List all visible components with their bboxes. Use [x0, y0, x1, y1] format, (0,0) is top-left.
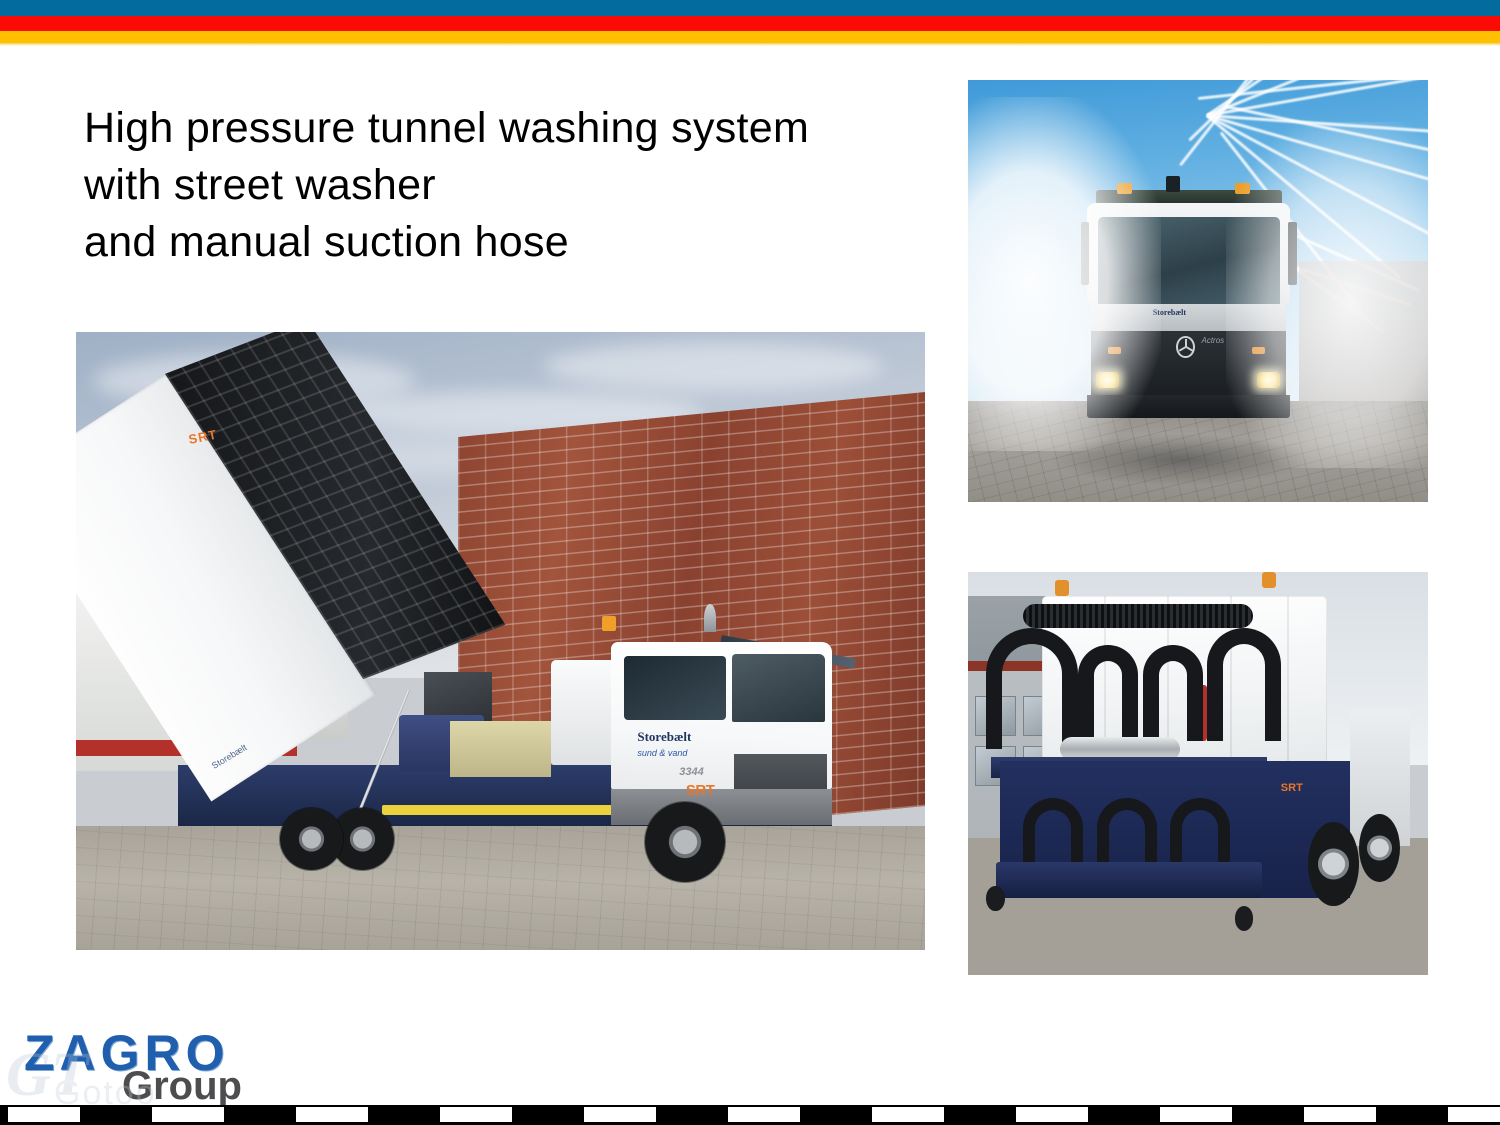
suction-hose-top [1023, 604, 1253, 628]
caster-wheel [1235, 906, 1253, 930]
checker-block [152, 1107, 224, 1122]
checker-block [1448, 1107, 1500, 1122]
checker-block [1016, 1107, 1088, 1122]
front-wheel [645, 802, 726, 882]
srt-body-mark: SRT [1281, 782, 1303, 794]
checker-block [440, 1107, 512, 1122]
cab-brand-text: Storebælt [637, 729, 691, 745]
zagro-group-word: Group [122, 1064, 242, 1109]
band-stripe-fade [0, 43, 1500, 46]
suction-hose [1143, 645, 1203, 742]
band-stripe-blue [0, 0, 1500, 16]
suction-hose-lower [1023, 798, 1083, 871]
rear-wheel [280, 808, 343, 870]
suction-hose-lower [1097, 798, 1157, 871]
checker-block [1304, 1107, 1376, 1122]
water-mist [1226, 122, 1428, 468]
amber-beacon [1262, 572, 1276, 588]
band-stripe-yellow [0, 31, 1500, 43]
sweeping-bar [996, 862, 1263, 898]
checker-block [728, 1107, 800, 1122]
zagro-logo: ZAGRO Group [18, 1024, 253, 1104]
model-badge: Actros [1201, 336, 1224, 345]
slide-title: High pressure tunnel washing system with… [84, 100, 964, 271]
caster-wheel [986, 886, 1004, 910]
photo-main-tipping-truck: SRT Storebælt Storebælt sund & vand 3344… [76, 332, 925, 950]
suction-hose [1207, 628, 1281, 741]
truck-cab: Storebælt sund & vand 3344 SRT [611, 629, 832, 858]
suction-hose-lower [1170, 798, 1230, 871]
checker-block [8, 1107, 80, 1122]
checker-block [1160, 1107, 1232, 1122]
equipment-box [450, 721, 552, 777]
water-mist [968, 97, 1161, 451]
band-stripe-red [0, 16, 1500, 31]
rear-wheel [1308, 822, 1359, 907]
cab-side-window [624, 656, 726, 720]
suction-hose [986, 628, 1078, 749]
photo-street-washer-spraying: Storebælt Actros [968, 80, 1428, 502]
suction-hose [1078, 645, 1138, 742]
checker-block [584, 1107, 656, 1122]
slide-root: High pressure tunnel washing system with… [0, 0, 1500, 1125]
cab-bumper [611, 789, 832, 826]
suction-mast [704, 604, 716, 632]
cab-srt-mark: SRT [686, 782, 715, 799]
checker-block [296, 1107, 368, 1122]
checkered-bottom-bar [0, 1105, 1500, 1125]
top-color-band [0, 0, 1500, 46]
cloud [543, 342, 883, 390]
cab-subbrand-text: sund & vand [637, 748, 687, 758]
cab-windshield [732, 654, 825, 723]
photo-rear-suction-hoses: SRT [968, 572, 1428, 975]
cab-model-number: 3344 [679, 766, 703, 778]
checker-block [872, 1107, 944, 1122]
roof-camera [1166, 176, 1181, 192]
amber-beacon [1055, 580, 1069, 596]
